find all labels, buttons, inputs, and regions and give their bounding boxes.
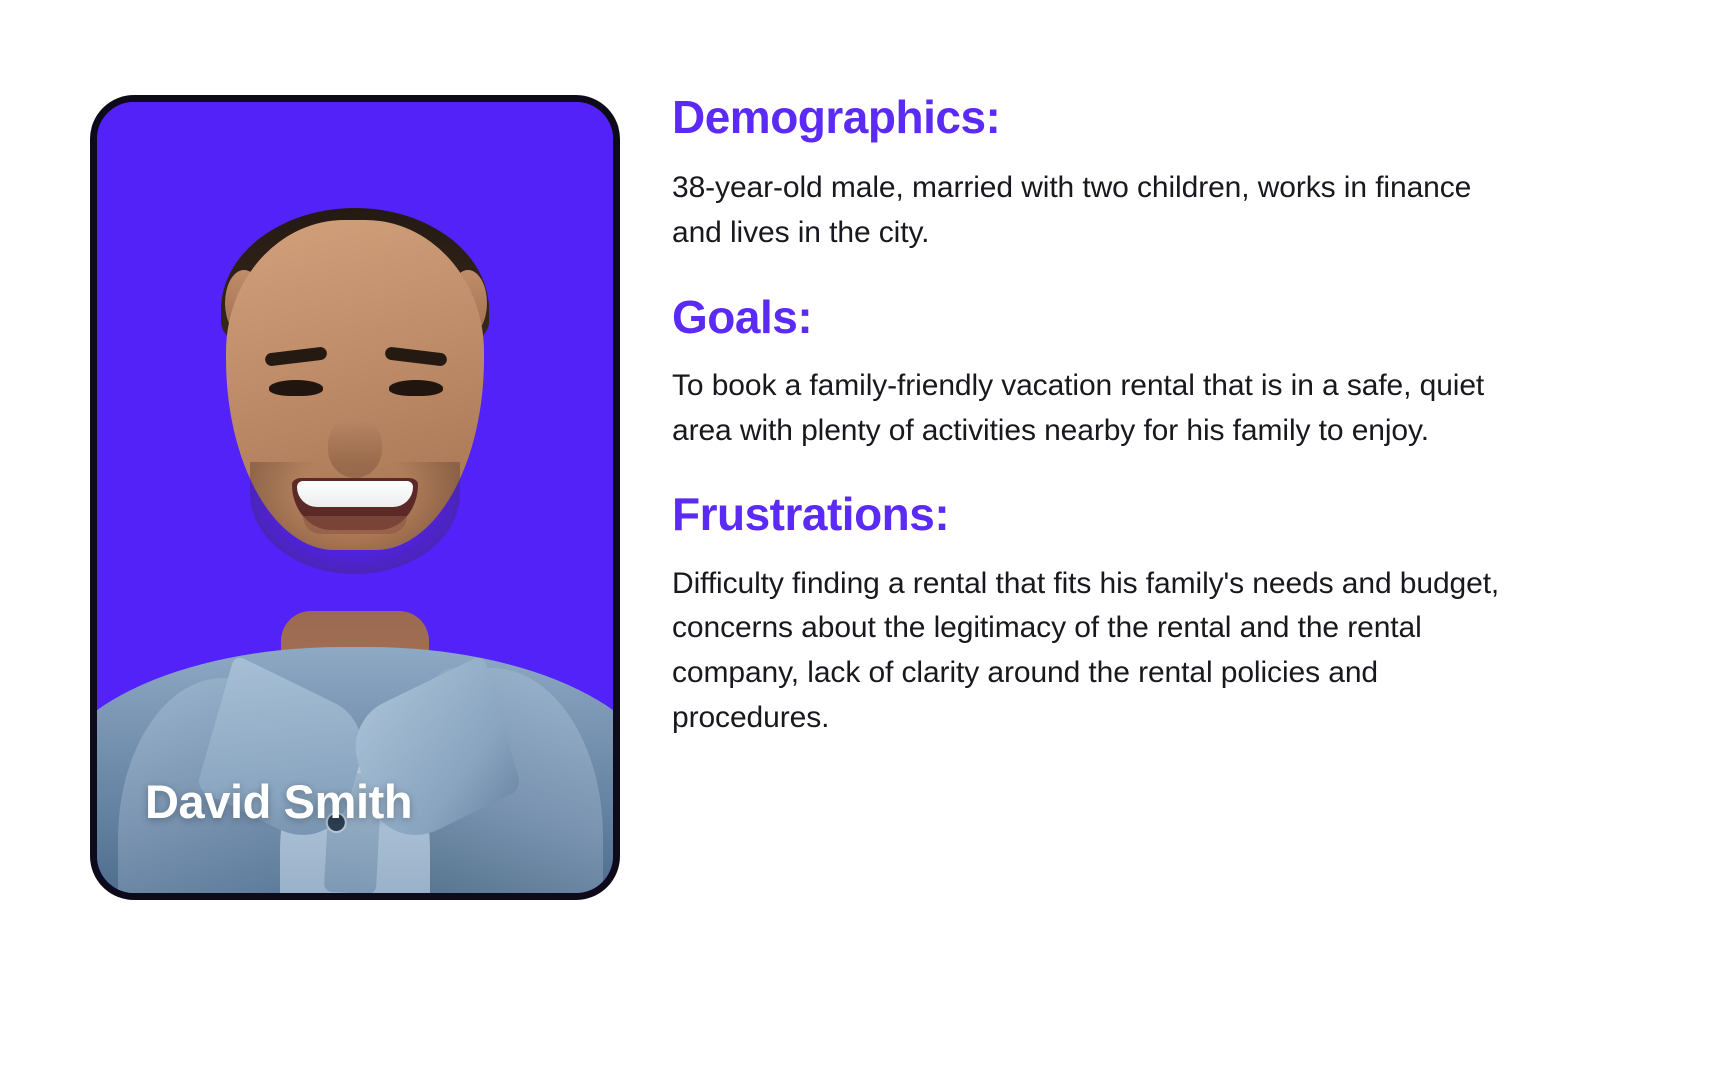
section-goals-heading: Goals: [672, 290, 1508, 344]
eye-right-shape [389, 380, 443, 396]
persona-name-label: David Smith [145, 778, 412, 825]
section-demographics: Demographics: 38-year-old male, married … [672, 90, 1508, 256]
lower-lip-shape [303, 516, 407, 534]
section-frustrations-heading: Frustrations: [672, 487, 1508, 541]
section-demographics-heading: Demographics: [672, 90, 1508, 144]
section-demographics-body: 38-year-old male, married with two child… [672, 166, 1508, 255]
persona-portrait-card: David Smith [90, 95, 620, 900]
persona-card-page: David Smith Demographics: 38-year-old ma… [0, 0, 1728, 1080]
section-frustrations: Frustrations: Difficulty finding a renta… [672, 487, 1508, 740]
section-goals-body: To book a family-friendly vacation renta… [672, 364, 1508, 453]
section-goals: Goals: To book a family-friendly vacatio… [672, 290, 1508, 454]
section-frustrations-body: Difficulty finding a rental that fits hi… [672, 562, 1508, 741]
eye-left-shape [269, 380, 323, 396]
persona-details-column: Demographics: 38-year-old male, married … [672, 90, 1508, 774]
teeth-shape [297, 481, 413, 507]
